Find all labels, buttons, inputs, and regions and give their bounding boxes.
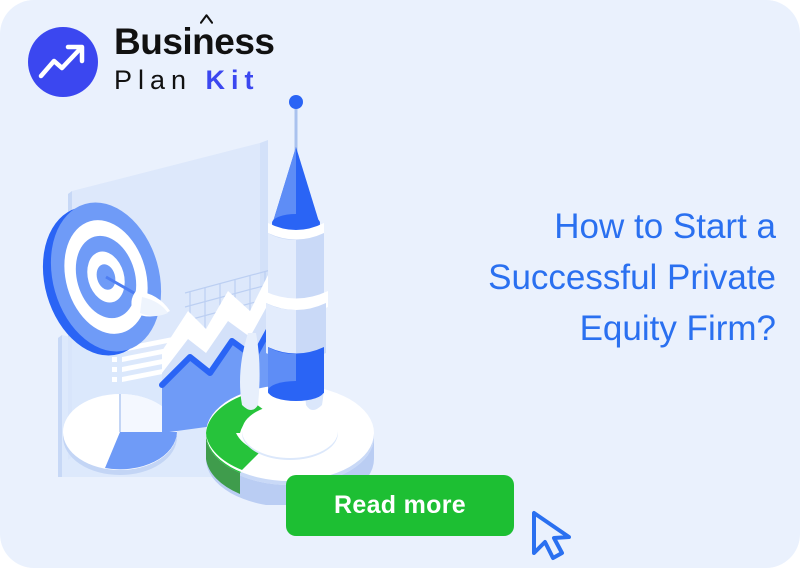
growth-arrow-circle-icon (28, 27, 98, 97)
mouse-pointer-icon (528, 508, 580, 564)
brand-name-line1: Business (114, 22, 334, 62)
headline-line-1: How to Start a (336, 201, 776, 252)
headline-line-2: Successful Private (336, 252, 776, 303)
page-title: How to Start a Successful Private Equity… (336, 201, 776, 354)
brand-name-kit: Kit (206, 65, 260, 95)
promo-banner: Business Plan Kit How to Start a Success… (0, 0, 800, 568)
brand-name-plan: Plan (114, 65, 206, 95)
headline-line-3: Equity Firm? (336, 303, 776, 354)
brand-name-business: Business (114, 21, 275, 62)
brand-logo[interactable]: Business Plan Kit (28, 22, 328, 100)
brand-name-line2: Plan Kit (114, 63, 334, 97)
pie-chart-icon (63, 394, 177, 475)
brand-wordmark: Business Plan Kit (114, 22, 334, 100)
read-more-button[interactable]: Read more (286, 475, 514, 536)
rocket-icon (264, 95, 328, 401)
